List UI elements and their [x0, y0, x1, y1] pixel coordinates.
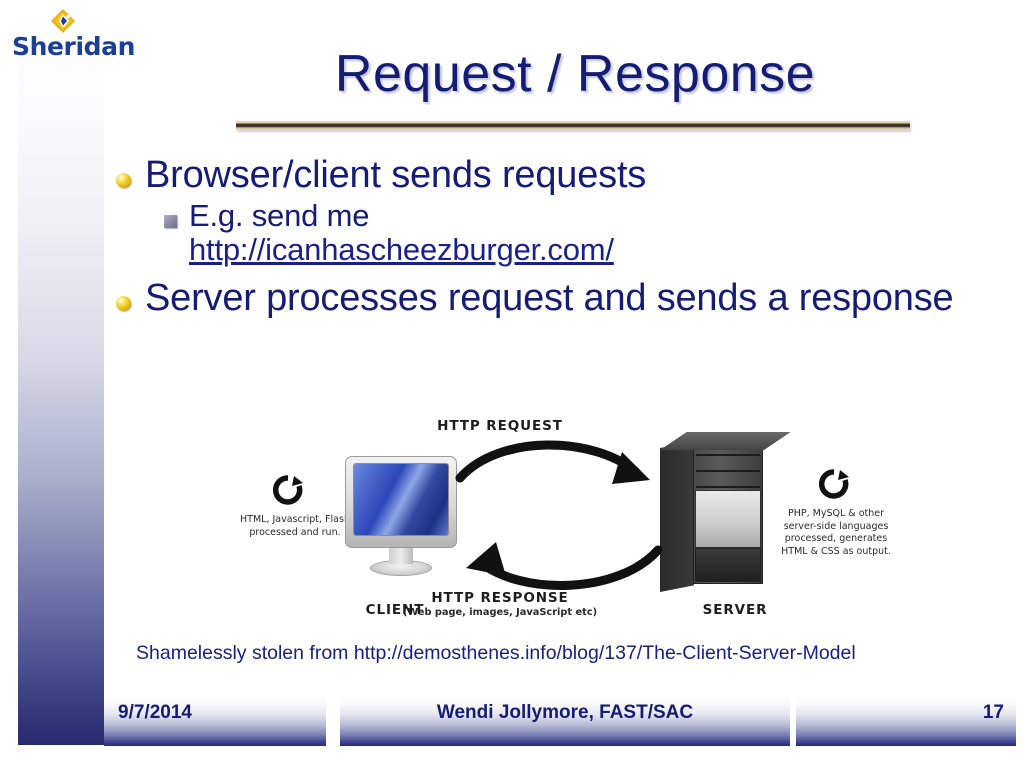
sheridan-logo: Sheridan [12, 6, 130, 64]
gold-sphere-bullet-icon [116, 173, 131, 188]
title-divider [236, 121, 910, 130]
page-title: Request / Response [180, 44, 970, 104]
left-gradient-bar [18, 8, 104, 745]
bullet-item-2-text: E.g. send me [189, 198, 369, 233]
server-label: SERVER [670, 602, 800, 618]
footer-page-number: 17 [796, 702, 1004, 724]
monitor-screen [353, 463, 449, 536]
request-response-arrows [454, 432, 664, 612]
monitor-neck [389, 547, 413, 564]
refresh-circle-icon [818, 468, 850, 500]
server-top-panel [660, 432, 791, 450]
client-processing-note: HTML, Javascript, Flash processed and ru… [240, 514, 350, 539]
footer-author: Wendi Jollymore, FAST/SAC [340, 702, 790, 724]
source-caption: Shamelessly stolen from http://demosthen… [136, 642, 936, 666]
bullet-item-2: E.g. send me http://icanhascheezburger.c… [164, 199, 1006, 266]
icanhascheezburger-link[interactable]: http://icanhascheezburger.com/ [189, 232, 614, 267]
server-bottom-panel [695, 548, 761, 582]
refresh-circle-icon [272, 474, 304, 506]
bullet-item-1: Browser/client sends requests [116, 155, 1006, 195]
gray-cube-bullet-icon [164, 215, 177, 228]
gold-sphere-bullet-icon [116, 296, 131, 311]
server-light-panel [695, 490, 761, 548]
bullet-item-3: Server processes request and sends a res… [116, 278, 1006, 318]
client-server-diagram: HTTP REQUEST HTTP RESPONSE (Web page, im… [240, 416, 890, 626]
diamond-icon [50, 8, 76, 34]
footer-date: 9/7/2014 [118, 702, 192, 724]
client-monitor-icon [345, 456, 457, 574]
server-drive-slot [696, 470, 760, 472]
server-tower-icon [660, 432, 768, 592]
logo-wordmark: Sheridan [12, 32, 130, 61]
monitor-frame [345, 456, 457, 548]
server-drive-slot [696, 486, 760, 488]
server-side-panel [660, 441, 694, 592]
bullet-item-3-label: Server processes request and sends a res… [145, 278, 953, 318]
server-drive-slot [696, 454, 760, 456]
slide-content: Browser/client sends requests E.g. send … [116, 155, 1006, 320]
bullet-item-2-label: E.g. send me http://icanhascheezburger.c… [189, 199, 614, 266]
server-processing-note: PHP, MySQL & other server-side languages… [780, 508, 892, 558]
client-label: CLIENT [330, 602, 460, 618]
bullet-item-1-label: Browser/client sends requests [145, 155, 646, 195]
